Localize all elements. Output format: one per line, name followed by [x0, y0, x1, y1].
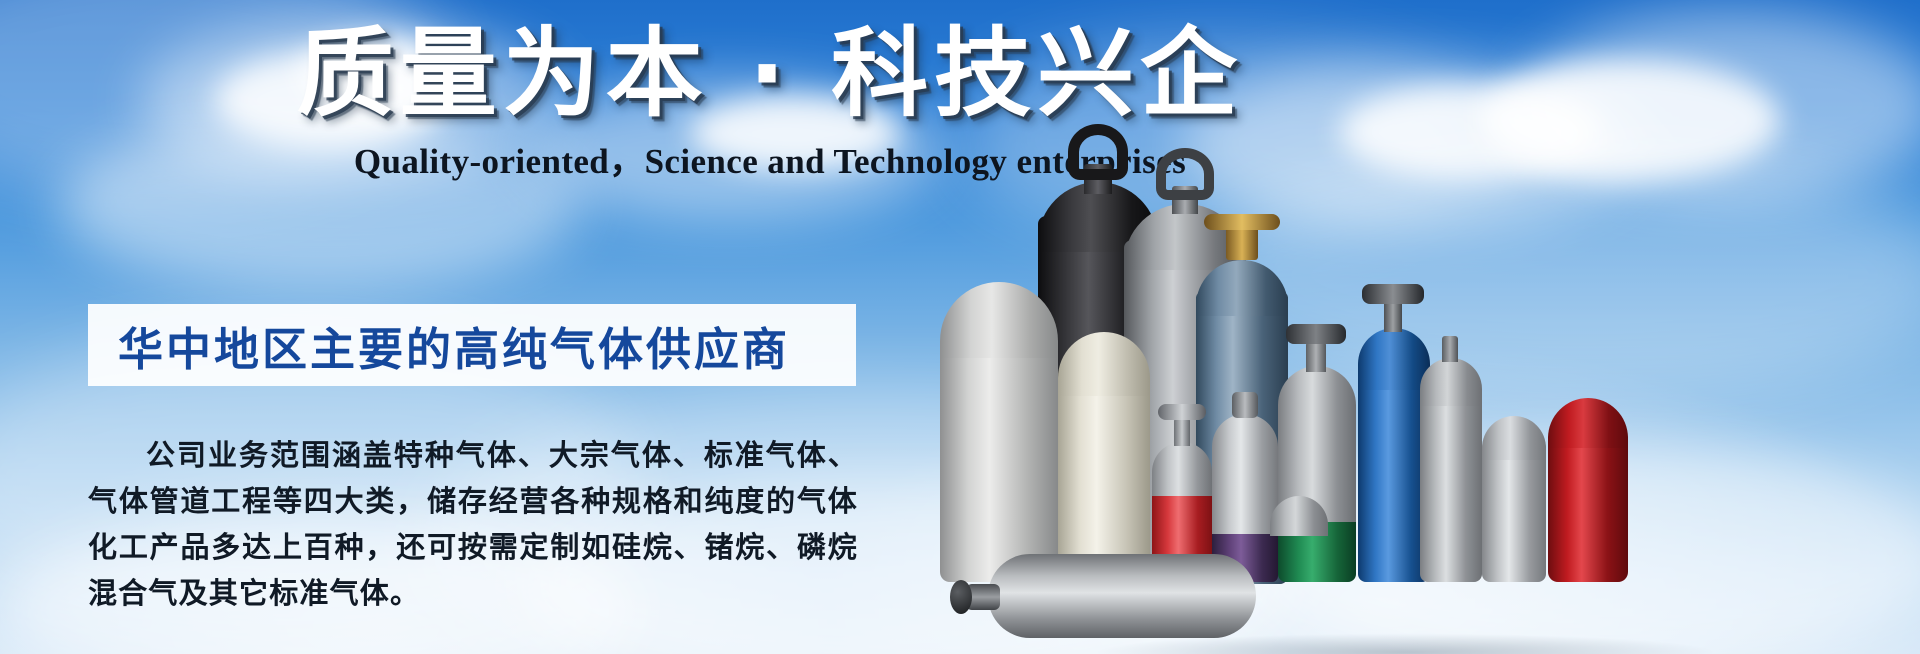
cylinder-handle-icon [1068, 124, 1128, 180]
tagline-text: 华中地区主要的高纯气体供应商 [88, 313, 790, 378]
valve-icon [1362, 284, 1424, 304]
steel-slim-cylinder [1420, 332, 1482, 582]
valve-icon [1286, 324, 1346, 344]
white-dome-cylinder [940, 282, 1058, 582]
valve-icon [1232, 392, 1258, 418]
valve-icon [1158, 404, 1206, 420]
red-bottle-cylinder [1548, 386, 1628, 582]
description-paragraph: 公司业务范围涵盖特种气体、大宗气体、标准气体、气体管道工程等四大类，储存经营各种… [88, 432, 858, 616]
cylinder-shadow [930, 608, 1920, 654]
aluminium-small-cylinder [1482, 400, 1546, 582]
cylinder-handle-icon [1156, 148, 1214, 200]
tagline-callout-box: 华中地区主要的高纯气体供应商 [88, 304, 856, 386]
brass-valve-icon [1204, 214, 1280, 230]
gas-cylinder-group [930, 0, 1920, 654]
cream-cylinder [1058, 332, 1150, 582]
promotional-banner: 质量为本 · 科技兴企 Quality-oriented，Science and… [0, 0, 1920, 654]
